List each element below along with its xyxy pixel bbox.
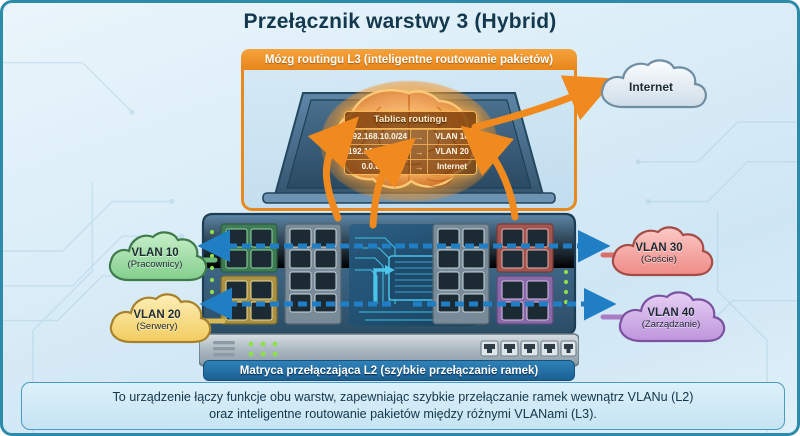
cloud-vlan10[interactable]: VLAN 10 (Pracownicy) [99, 228, 211, 290]
cloud-vlan20-label: VLAN 20 (Serwery) [99, 290, 215, 352]
caption-line-1: To urządzenie łączy funkcje obu warstw, … [113, 389, 694, 406]
l2-matrix-label: Matryca przełączająca L2 (szybkie przełą… [203, 360, 575, 381]
caption-box: To urządzenie łączy funkcje obu warstw, … [21, 382, 785, 430]
routing-table-row: 0.0.0.0/0 → Internet [345, 159, 476, 174]
arrow-right-icon: → [410, 130, 428, 144]
route-network: 192.168.20.0/24 [345, 145, 410, 159]
cloud-internet-label: Internet [587, 57, 715, 119]
l3-panel-header: Mózg routingu L3 (inteligentne routowani… [241, 49, 577, 70]
cloud-internet[interactable]: Internet [587, 57, 715, 119]
route-target: VLAN 10 [428, 130, 476, 144]
diagram-canvas: Przełącznik warstwy 3 (Hybrid) [0, 0, 800, 436]
cloud-vlan10-label: VLAN 10 (Pracownicy) [99, 228, 211, 290]
switch-chassis-graphic [199, 208, 579, 371]
routing-table-title: Tablica routingu [345, 112, 476, 129]
cloud-vlan40[interactable]: VLAN 40 (Zarządzanie) [607, 287, 735, 351]
cloud-vlan40-label: VLAN 40 (Zarządzanie) [607, 287, 735, 351]
route-network: 0.0.0.0/0 [345, 160, 410, 174]
cloud-vlan30[interactable]: VLAN 30 (Goście) [601, 223, 717, 285]
routing-table-row: 192.168.10.0/24 → VLAN 10 [345, 129, 476, 144]
arrow-right-icon: → [410, 145, 428, 159]
caption-line-2: oraz inteligentne routowanie pakietów mi… [209, 406, 597, 423]
cloud-vlan30-label: VLAN 30 (Goście) [601, 223, 717, 285]
cloud-vlan20[interactable]: VLAN 20 (Serwery) [99, 290, 215, 352]
routing-table: Tablica routingu 192.168.10.0/24 → VLAN … [344, 111, 477, 175]
page-title: Przełącznik warstwy 3 (Hybrid) [3, 10, 797, 34]
arrow-right-icon: → [410, 160, 428, 174]
routing-table-row: 192.168.20.0/24 → VLAN 20 [345, 144, 476, 159]
route-network: 192.168.10.0/24 [345, 130, 410, 144]
route-target: VLAN 20 [428, 145, 476, 159]
route-target: Internet [428, 160, 476, 174]
